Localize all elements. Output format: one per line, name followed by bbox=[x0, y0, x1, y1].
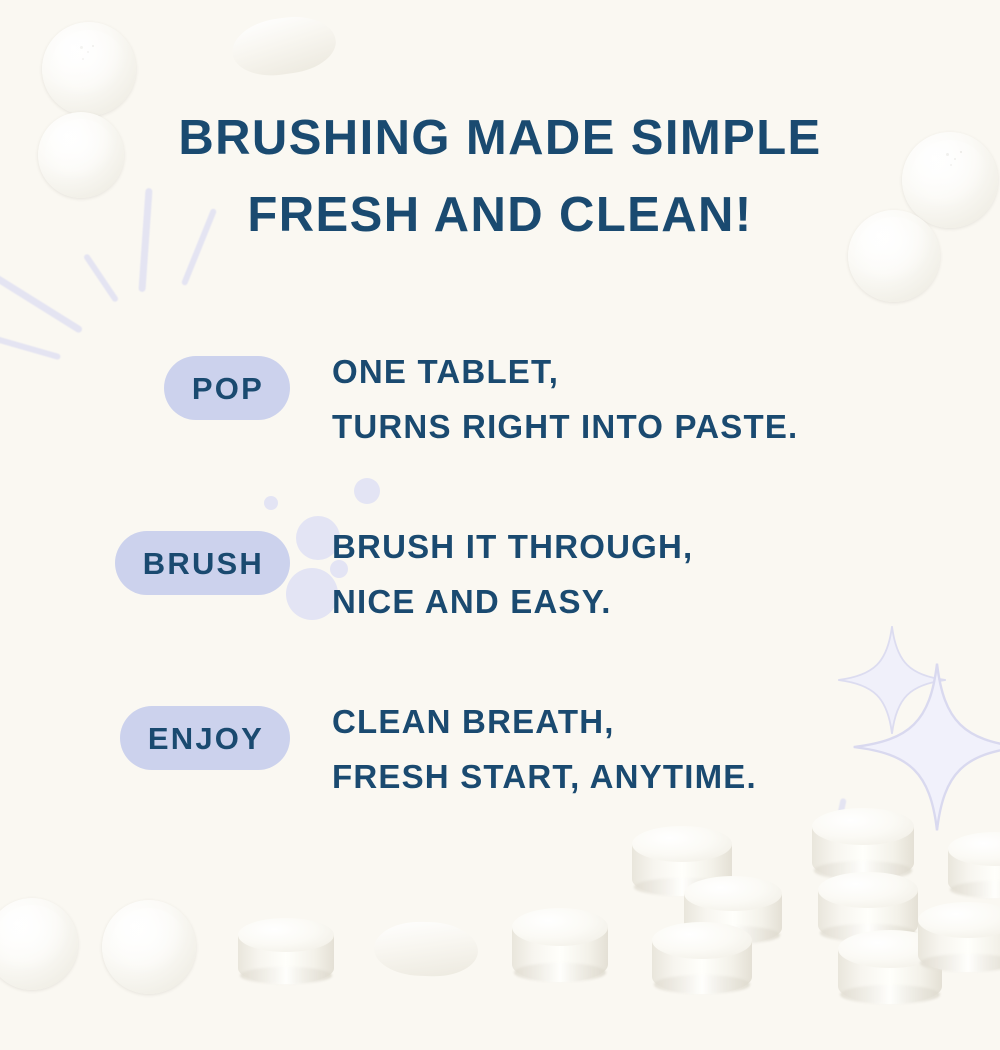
step-badge-enjoy[interactable]: ENJOY bbox=[120, 706, 290, 770]
step-description-line-2: FRESH START, ANYTIME. bbox=[332, 749, 1000, 804]
step-description-enjoy: CLEAN BREATH, FRESH START, ANYTIME. bbox=[290, 694, 1000, 804]
page-title: BRUSHING MADE SIMPLE FRESH AND CLEAN! bbox=[0, 100, 1000, 255]
step-description-line-2: TURNS RIGHT INTO PASTE. bbox=[332, 399, 1000, 454]
content-layer: BRUSHING MADE SIMPLE FRESH AND CLEAN! PO… bbox=[0, 0, 1000, 1050]
step-description-brush: BRUSH IT THROUGH, NICE AND EASY. bbox=[290, 519, 1000, 629]
steps-list: POP ONE TABLET, TURNS RIGHT INTO PASTE. … bbox=[0, 344, 1000, 869]
page-title-line-1: BRUSHING MADE SIMPLE bbox=[178, 111, 821, 165]
step-badge-pop[interactable]: POP bbox=[164, 356, 290, 420]
step-row-pop: POP ONE TABLET, TURNS RIGHT INTO PASTE. bbox=[0, 344, 1000, 519]
badge-cell: POP bbox=[0, 344, 290, 420]
step-row-brush: BRUSH BRUSH IT THROUGH, NICE AND EASY. bbox=[0, 519, 1000, 694]
step-description-line-1: CLEAN BREATH, bbox=[332, 694, 1000, 749]
badge-cell: ENJOY bbox=[0, 694, 290, 770]
step-row-enjoy: ENJOY CLEAN BREATH, FRESH START, ANYTIME… bbox=[0, 694, 1000, 869]
step-description-line-2: NICE AND EASY. bbox=[332, 574, 1000, 629]
page-title-line-2: FRESH AND CLEAN! bbox=[0, 177, 1000, 254]
poster-root: BRUSHING MADE SIMPLE FRESH AND CLEAN! PO… bbox=[0, 0, 1000, 1050]
step-description-pop: ONE TABLET, TURNS RIGHT INTO PASTE. bbox=[290, 344, 1000, 454]
step-description-line-1: ONE TABLET, bbox=[332, 344, 1000, 399]
step-description-line-1: BRUSH IT THROUGH, bbox=[332, 519, 1000, 574]
step-badge-brush[interactable]: BRUSH bbox=[115, 531, 290, 595]
badge-cell: BRUSH bbox=[0, 519, 290, 595]
